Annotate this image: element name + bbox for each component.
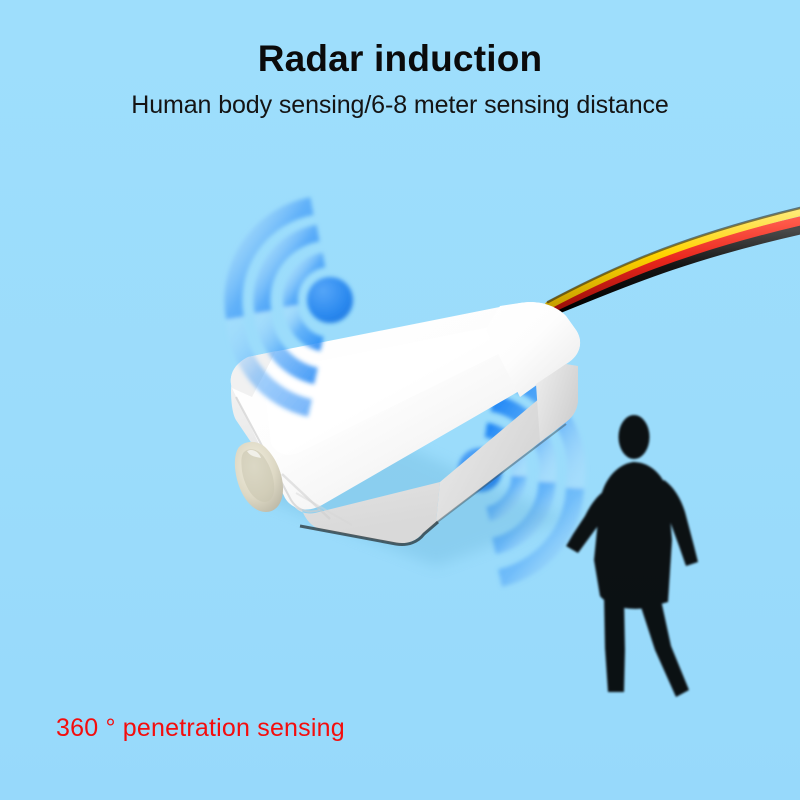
product-illustration <box>0 0 800 800</box>
radar-emitter-dot <box>307 277 353 323</box>
penetration-sensing-note: 360 ° penetration sensing <box>56 714 345 743</box>
radar-sensor-product-poster: Radar induction Human body sensing/6-8 m… <box>0 0 800 800</box>
person-leg-front <box>604 596 625 692</box>
page-subtitle: Human body sensing/6-8 meter sensing dis… <box>0 90 800 120</box>
person-head <box>619 415 650 459</box>
page-title: Radar induction <box>0 38 800 81</box>
